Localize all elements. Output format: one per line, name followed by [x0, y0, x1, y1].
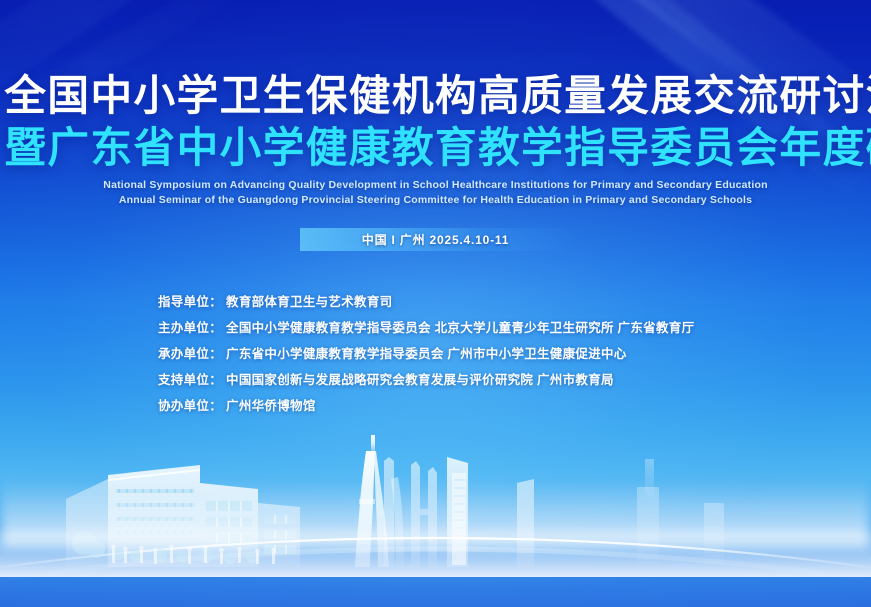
organization-row: 承办单位： 广东省中小学健康教育教学指导委员会 广州市中小学卫生健康促进中心: [0, 339, 871, 365]
right-tower: [517, 479, 534, 567]
organization-value: 全国中小学健康教育教学指导委员会 北京大学儿童青少年卫生研究所 广东省教育厅: [226, 317, 694, 336]
foreground-figures: [72, 531, 258, 564]
organization-row: 支持单位： 中国国家创新与发展战略研究会教育发展与评价研究院 广州市教育局: [0, 365, 871, 391]
organization-row: 主办单位： 全国中小学健康教育教学指导委员会 北京大学儿童青少年卫生研究所 广东…: [0, 313, 871, 339]
organization-label: 支持单位：: [158, 369, 222, 388]
ground-haze: [0, 477, 871, 547]
organization-label: 承办单位：: [158, 343, 222, 362]
organization-label: 主办单位：: [158, 317, 222, 336]
banner-text: 中国 I 广州 2025.4.10-11: [362, 231, 509, 248]
organization-row: 协办单位： 广州华侨博物馆: [0, 391, 871, 417]
organization-value: 广州华侨博物馆: [226, 395, 316, 414]
event-poster: 全国中小学卫生保健机构高质量发展交流研讨活动 暨广东省中小学健康教育教学指导委员…: [0, 0, 871, 607]
canton-tower-silhouette: [355, 435, 389, 567]
date-location-banner-wrap: 中国 I 广州 2025.4.10-11: [0, 228, 871, 251]
organization-label: 指导单位：: [158, 291, 222, 310]
people-silhouettes: [111, 545, 275, 564]
organizations-list: 指导单位： 教育部体育卫生与艺术教育司 主办单位： 全国中小学健康教育教学指导委…: [0, 287, 871, 417]
headline-block: 全国中小学卫生保健机构高质量发展交流研讨活动 暨广东省中小学健康教育教学指导委员…: [0, 72, 871, 172]
page-title-line-2: 暨广东省中小学健康教育教学指导委员会年度研讨活动: [4, 124, 866, 172]
subtitle-line-2: Annual Seminar of the Guangdong Provinci…: [0, 193, 871, 208]
organization-label: 协办单位：: [158, 395, 222, 414]
subtitle-block: National Symposium on Advancing Quality …: [0, 178, 871, 208]
school-building-illustration: [66, 465, 300, 567]
guangzhou-skyline-silhouette: [0, 417, 871, 607]
horizon-arc-line: [0, 470, 871, 607]
tower-cluster: [384, 457, 468, 567]
organization-row: 指导单位： 教育部体育卫生与艺术教育司: [0, 287, 871, 313]
organization-value: 中国国家创新与发展战略研究会教育发展与评价研究院 广州市教育局: [226, 369, 614, 388]
subtitle-line-1: National Symposium on Advancing Quality …: [0, 178, 871, 193]
organization-value: 广东省中小学健康教育教学指导委员会 广州市中小学卫生健康促进中心: [226, 343, 627, 362]
date-location-banner: 中国 I 广州 2025.4.10-11: [300, 228, 572, 251]
far-right-towers: [637, 459, 724, 565]
page-title-line-1: 全国中小学卫生保健机构高质量发展交流研讨活动: [4, 72, 866, 120]
organization-value: 教育部体育卫生与艺术教育司: [226, 291, 392, 310]
